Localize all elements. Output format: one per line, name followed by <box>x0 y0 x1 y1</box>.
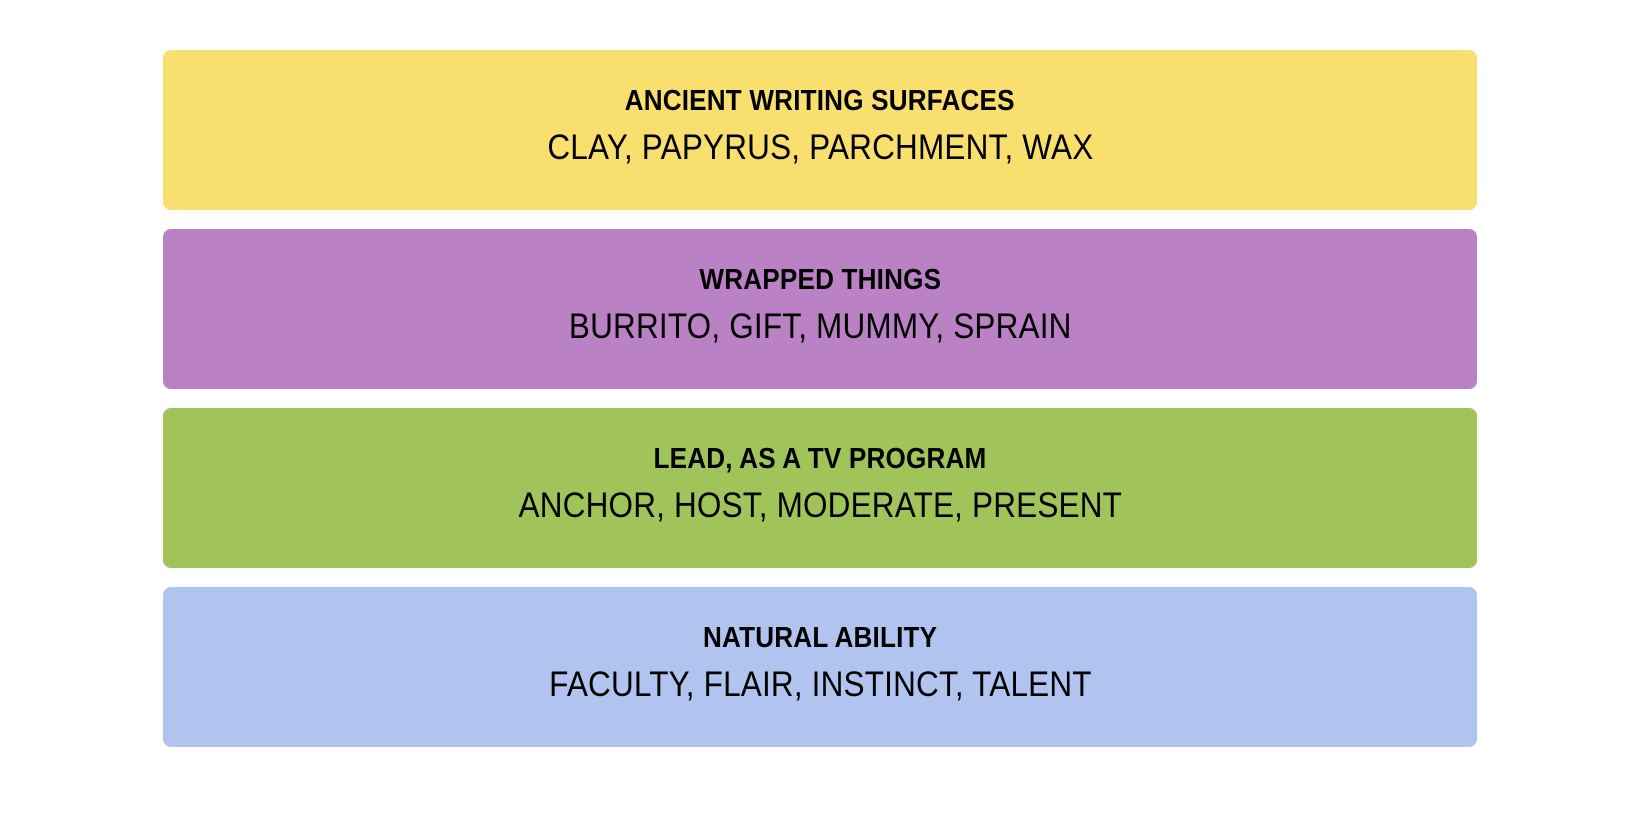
category-card-green[interactable]: LEAD, AS A TV PROGRAM ANCHOR, HOST, MODE… <box>163 408 1477 568</box>
category-title: WRAPPED THINGS <box>699 266 941 295</box>
category-card-purple[interactable]: WRAPPED THINGS BURRITO, GIFT, MUMMY, SPR… <box>163 229 1477 389</box>
category-card-blue[interactable]: NATURAL ABILITY FACULTY, FLAIR, INSTINCT… <box>163 587 1477 747</box>
category-title: NATURAL ABILITY <box>703 624 937 653</box>
category-words: CLAY, PAPYRUS, PARCHMENT, WAX <box>547 130 1093 165</box>
connections-solved-board: ANCIENT WRITING SURFACES CLAY, PAPYRUS, … <box>163 50 1477 747</box>
category-words: BURRITO, GIFT, MUMMY, SPRAIN <box>569 309 1072 344</box>
category-words: FACULTY, FLAIR, INSTINCT, TALENT <box>549 667 1092 702</box>
category-title: LEAD, AS A TV PROGRAM <box>654 445 987 474</box>
category-words: ANCHOR, HOST, MODERATE, PRESENT <box>518 488 1122 523</box>
category-card-yellow[interactable]: ANCIENT WRITING SURFACES CLAY, PAPYRUS, … <box>163 50 1477 210</box>
category-title: ANCIENT WRITING SURFACES <box>625 87 1015 116</box>
